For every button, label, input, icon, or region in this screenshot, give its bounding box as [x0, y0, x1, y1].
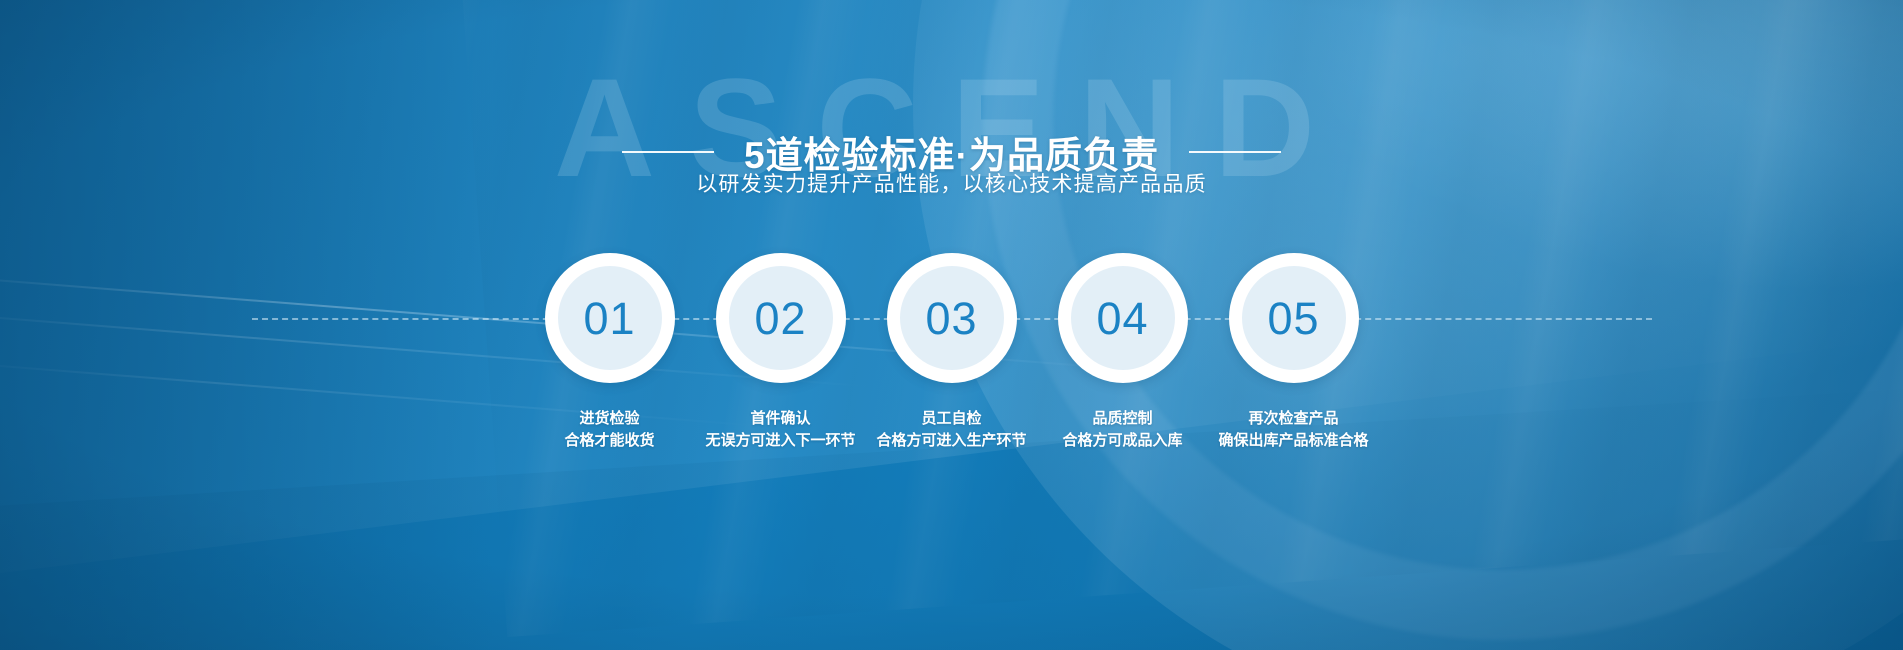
step-circle-inner: 02: [729, 266, 833, 370]
step-labels: 品质控制 合格方可成品入库: [1062, 408, 1182, 452]
step-circle: 01: [545, 253, 675, 383]
step-circle: 02: [716, 253, 846, 383]
step-list: 01 进货检验 合格才能收货 02 首件确认 无误方可进入下一环节: [0, 253, 1903, 452]
step-title: 员工自检: [876, 408, 1026, 430]
banner-stage: ASCEND 5道检验标准·为品质负责 以研发实力提升产品性能，以核心技术提高产…: [0, 0, 1903, 650]
step-title: 进货检验: [564, 408, 654, 430]
step-description: 合格才能收货: [564, 430, 654, 452]
step-item-03[interactable]: 03 员工自检 合格方可进入生产环节: [866, 253, 1037, 452]
step-item-02[interactable]: 02 首件确认 无误方可进入下一环节: [695, 253, 866, 452]
step-circle-inner: 01: [558, 266, 662, 370]
step-number: 02: [754, 296, 806, 341]
step-number: 04: [1096, 296, 1148, 341]
step-description: 确保出库产品标准合格: [1218, 430, 1368, 452]
step-labels: 进货检验 合格才能收货: [564, 408, 654, 452]
page-subtitle: 以研发实力提升产品性能，以核心技术提高产品品质: [0, 168, 1903, 198]
step-circle: 03: [887, 253, 1017, 383]
step-description: 合格方可成品入库: [1062, 430, 1182, 452]
step-circle-inner: 05: [1242, 266, 1346, 370]
step-title: 再次检查产品: [1218, 408, 1368, 430]
step-number: 03: [925, 296, 977, 341]
step-description: 合格方可进入生产环节: [876, 430, 1026, 452]
headline-rule-left: [622, 151, 714, 153]
step-labels: 再次检查产品 确保出库产品标准合格: [1218, 408, 1368, 452]
step-circle-inner: 03: [900, 266, 1004, 370]
step-labels: 首件确认 无误方可进入下一环节: [705, 408, 855, 452]
step-circle-inner: 04: [1071, 266, 1175, 370]
step-item-05[interactable]: 05 再次检查产品 确保出库产品标准合格: [1208, 253, 1379, 452]
step-item-01[interactable]: 01 进货检验 合格才能收货: [524, 253, 695, 452]
headline-rule-right: [1189, 151, 1281, 153]
step-description: 无误方可进入下一环节: [705, 430, 855, 452]
step-circle: 05: [1229, 253, 1359, 383]
step-title: 首件确认: [705, 408, 855, 430]
step-labels: 员工自检 合格方可进入生产环节: [876, 408, 1026, 452]
step-number: 01: [583, 296, 635, 341]
step-number: 05: [1267, 296, 1319, 341]
step-title: 品质控制: [1062, 408, 1182, 430]
step-circle: 04: [1058, 253, 1188, 383]
step-item-04[interactable]: 04 品质控制 合格方可成品入库: [1037, 253, 1208, 452]
